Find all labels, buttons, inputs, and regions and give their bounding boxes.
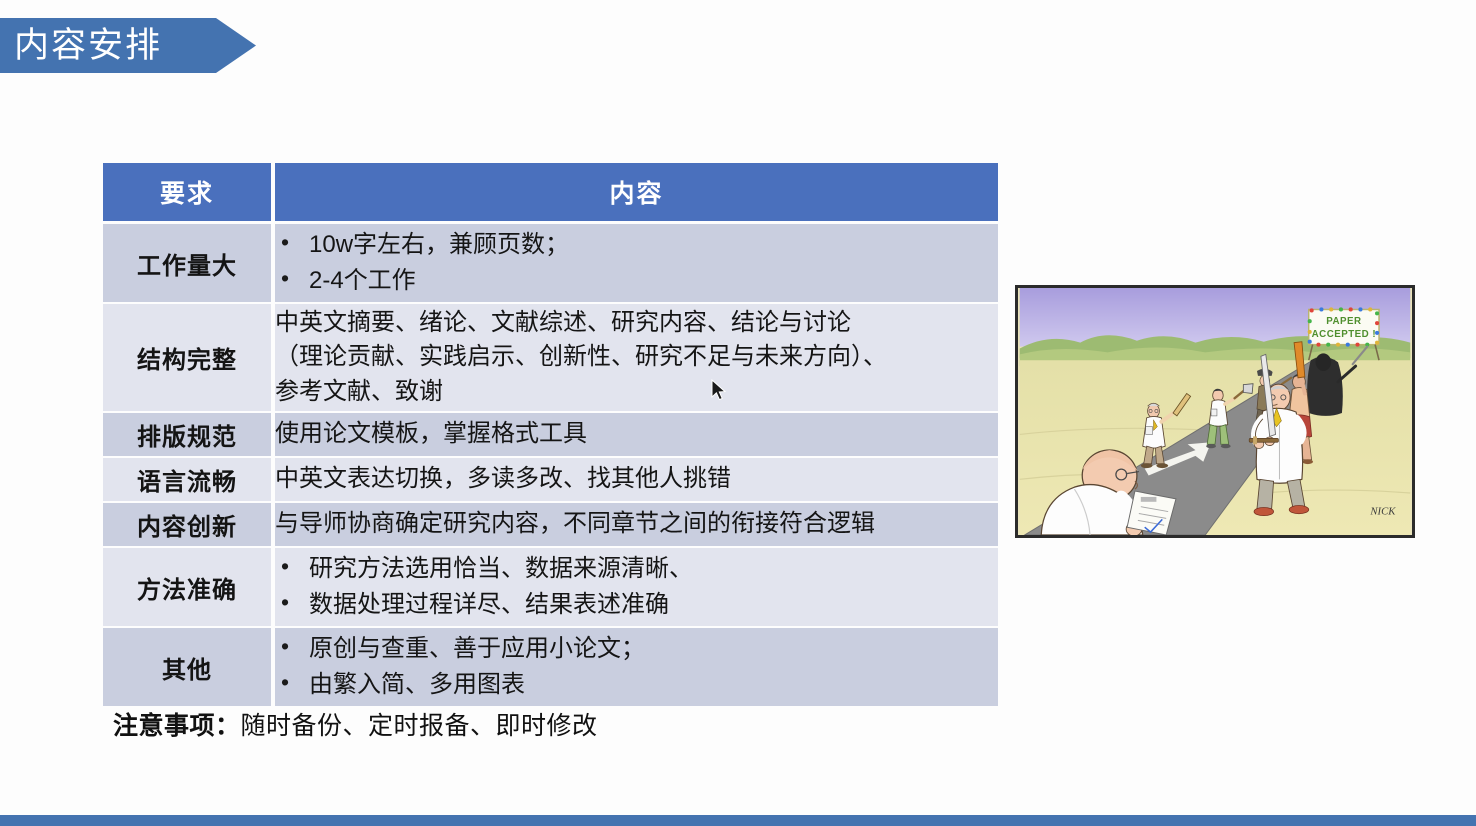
requirements-table: 要求 内容 工作量大 10w字左右，兼顾页数； 2-4个工作 结构完整 中英文摘… — [103, 163, 998, 706]
row-requirement-label: 工作量大 — [103, 224, 275, 304]
cartoon-signature: NICK — [1369, 505, 1396, 517]
list-item: 10w字左右，兼顾页数； — [275, 227, 998, 263]
row-content: 10w字左右，兼顾页数； 2-4个工作 — [275, 224, 998, 304]
row-requirement-label: 其他 — [103, 628, 275, 706]
column-header-content: 内容 — [275, 163, 998, 224]
table-row: 内容创新 与导师协商确定研究内容，不同章节之间的衔接符合逻辑 — [103, 503, 998, 548]
table-header-row: 要求 内容 — [103, 163, 998, 224]
list-item: 原创与查重、善于应用小论文； — [275, 631, 998, 667]
column-header-requirement: 要求 — [103, 163, 275, 224]
table-body: 工作量大 10w字左右，兼顾页数； 2-4个工作 结构完整 中英文摘要、绪论、文… — [103, 224, 998, 706]
row-content: 与导师协商确定研究内容，不同章节之间的衔接符合逻辑 — [275, 503, 998, 548]
list-item: 由繁入简、多用图表 — [275, 667, 998, 703]
svg-text:PAPER: PAPER — [1326, 316, 1361, 327]
row-content: 中英文摘要、绪论、文献综述、研究内容、结论与讨论 （理论贡献、实践启示、创新性、… — [275, 304, 998, 413]
table-row: 语言流畅 中英文表达切换，多读多改、找其他人挑错 — [103, 458, 998, 503]
slide-title-banner: 内容安排 — [0, 18, 256, 73]
row-requirement-label: 排版规范 — [103, 413, 275, 458]
content-paragraph: 与导师协商确定研究内容，不同章节之间的衔接符合逻辑 — [275, 507, 998, 541]
footnote-label: 注意事项： — [113, 712, 241, 740]
bullet-list: 研究方法选用恰当、数据来源清晰、 数据处理过程详尽、结果表述准确 — [275, 551, 998, 623]
footnote-text: 随时备份、定时报备、即时修改 — [241, 712, 598, 740]
row-requirement-label: 结构完整 — [103, 304, 275, 413]
row-content: 中英文表达切换，多读多改、找其他人挑错 — [275, 458, 998, 503]
row-requirement-label: 方法准确 — [103, 548, 275, 628]
svg-text:ACCEPTED !: ACCEPTED ! — [1312, 329, 1376, 340]
list-item: 研究方法选用恰当、数据来源清晰、 — [275, 551, 998, 587]
table-row: 工作量大 10w字左右，兼顾页数； 2-4个工作 — [103, 224, 998, 304]
row-requirement-label: 语言流畅 — [103, 458, 275, 503]
table-row: 方法准确 研究方法选用恰当、数据来源清晰、 数据处理过程详尽、结果表述准确 — [103, 548, 998, 628]
bullet-list: 原创与查重、善于应用小论文； 由繁入简、多用图表 — [275, 631, 998, 703]
bullet-list: 10w字左右，兼顾页数； 2-4个工作 — [275, 227, 998, 299]
cartoon-svg: PAPER ACCEPTED ! — [1018, 288, 1412, 535]
row-requirement-label: 内容创新 — [103, 503, 275, 548]
content-paragraph: 使用论文模板，掌握格式工具 — [275, 417, 998, 451]
row-content: 研究方法选用恰当、数据来源清晰、 数据处理过程详尽、结果表述准确 — [275, 548, 998, 628]
list-item: 数据处理过程详尽、结果表述准确 — [275, 587, 998, 623]
content-paragraph: 中英文摘要、绪论、文献综述、研究内容、结论与讨论 （理论贡献、实践启示、创新性、… — [275, 306, 998, 408]
footnote: 注意事项：随时备份、定时报备、即时修改 — [113, 706, 598, 742]
row-content: 使用论文模板，掌握格式工具 — [275, 413, 998, 458]
bottom-accent-bar — [0, 815, 1476, 826]
table-row: 其他 原创与查重、善于应用小论文； 由繁入简、多用图表 — [103, 628, 998, 706]
page-title: 内容安排 — [14, 28, 162, 63]
content-paragraph: 中英文表达切换，多读多改、找其他人挑错 — [275, 462, 998, 496]
table-row: 结构完整 中英文摘要、绪论、文献综述、研究内容、结论与讨论 （理论贡献、实践启示… — [103, 304, 998, 413]
row-content: 原创与查重、善于应用小论文； 由繁入简、多用图表 — [275, 628, 998, 706]
list-item: 2-4个工作 — [275, 263, 998, 299]
cartoon-illustration: PAPER ACCEPTED ! — [1015, 285, 1415, 538]
table-header: 要求 内容 — [103, 163, 998, 224]
table-row: 排版规范 使用论文模板，掌握格式工具 — [103, 413, 998, 458]
